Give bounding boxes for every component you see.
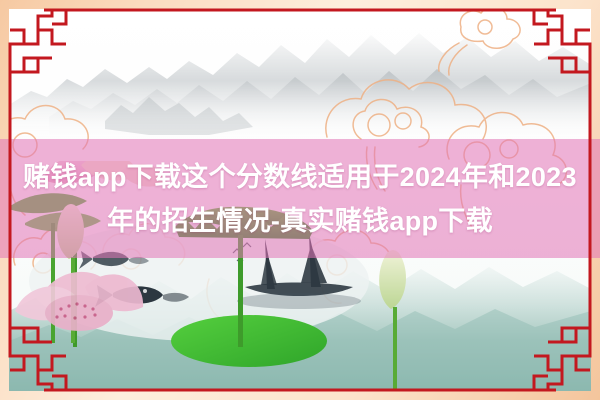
banner-text-line-1: 赌钱app下载这个分数线适用于2024年和2023 xyxy=(23,155,577,199)
banner-image: 赌钱app下载这个分数线适用于2024年和2023 年的招生情况-真实赌钱app… xyxy=(0,0,600,400)
banner-text-block: 赌钱app下载这个分数线适用于2024年和2023 年的招生情况-真实赌钱app… xyxy=(0,139,600,258)
banner-text-line-2: 年的招生情况-真实赌钱app下载 xyxy=(107,199,493,243)
